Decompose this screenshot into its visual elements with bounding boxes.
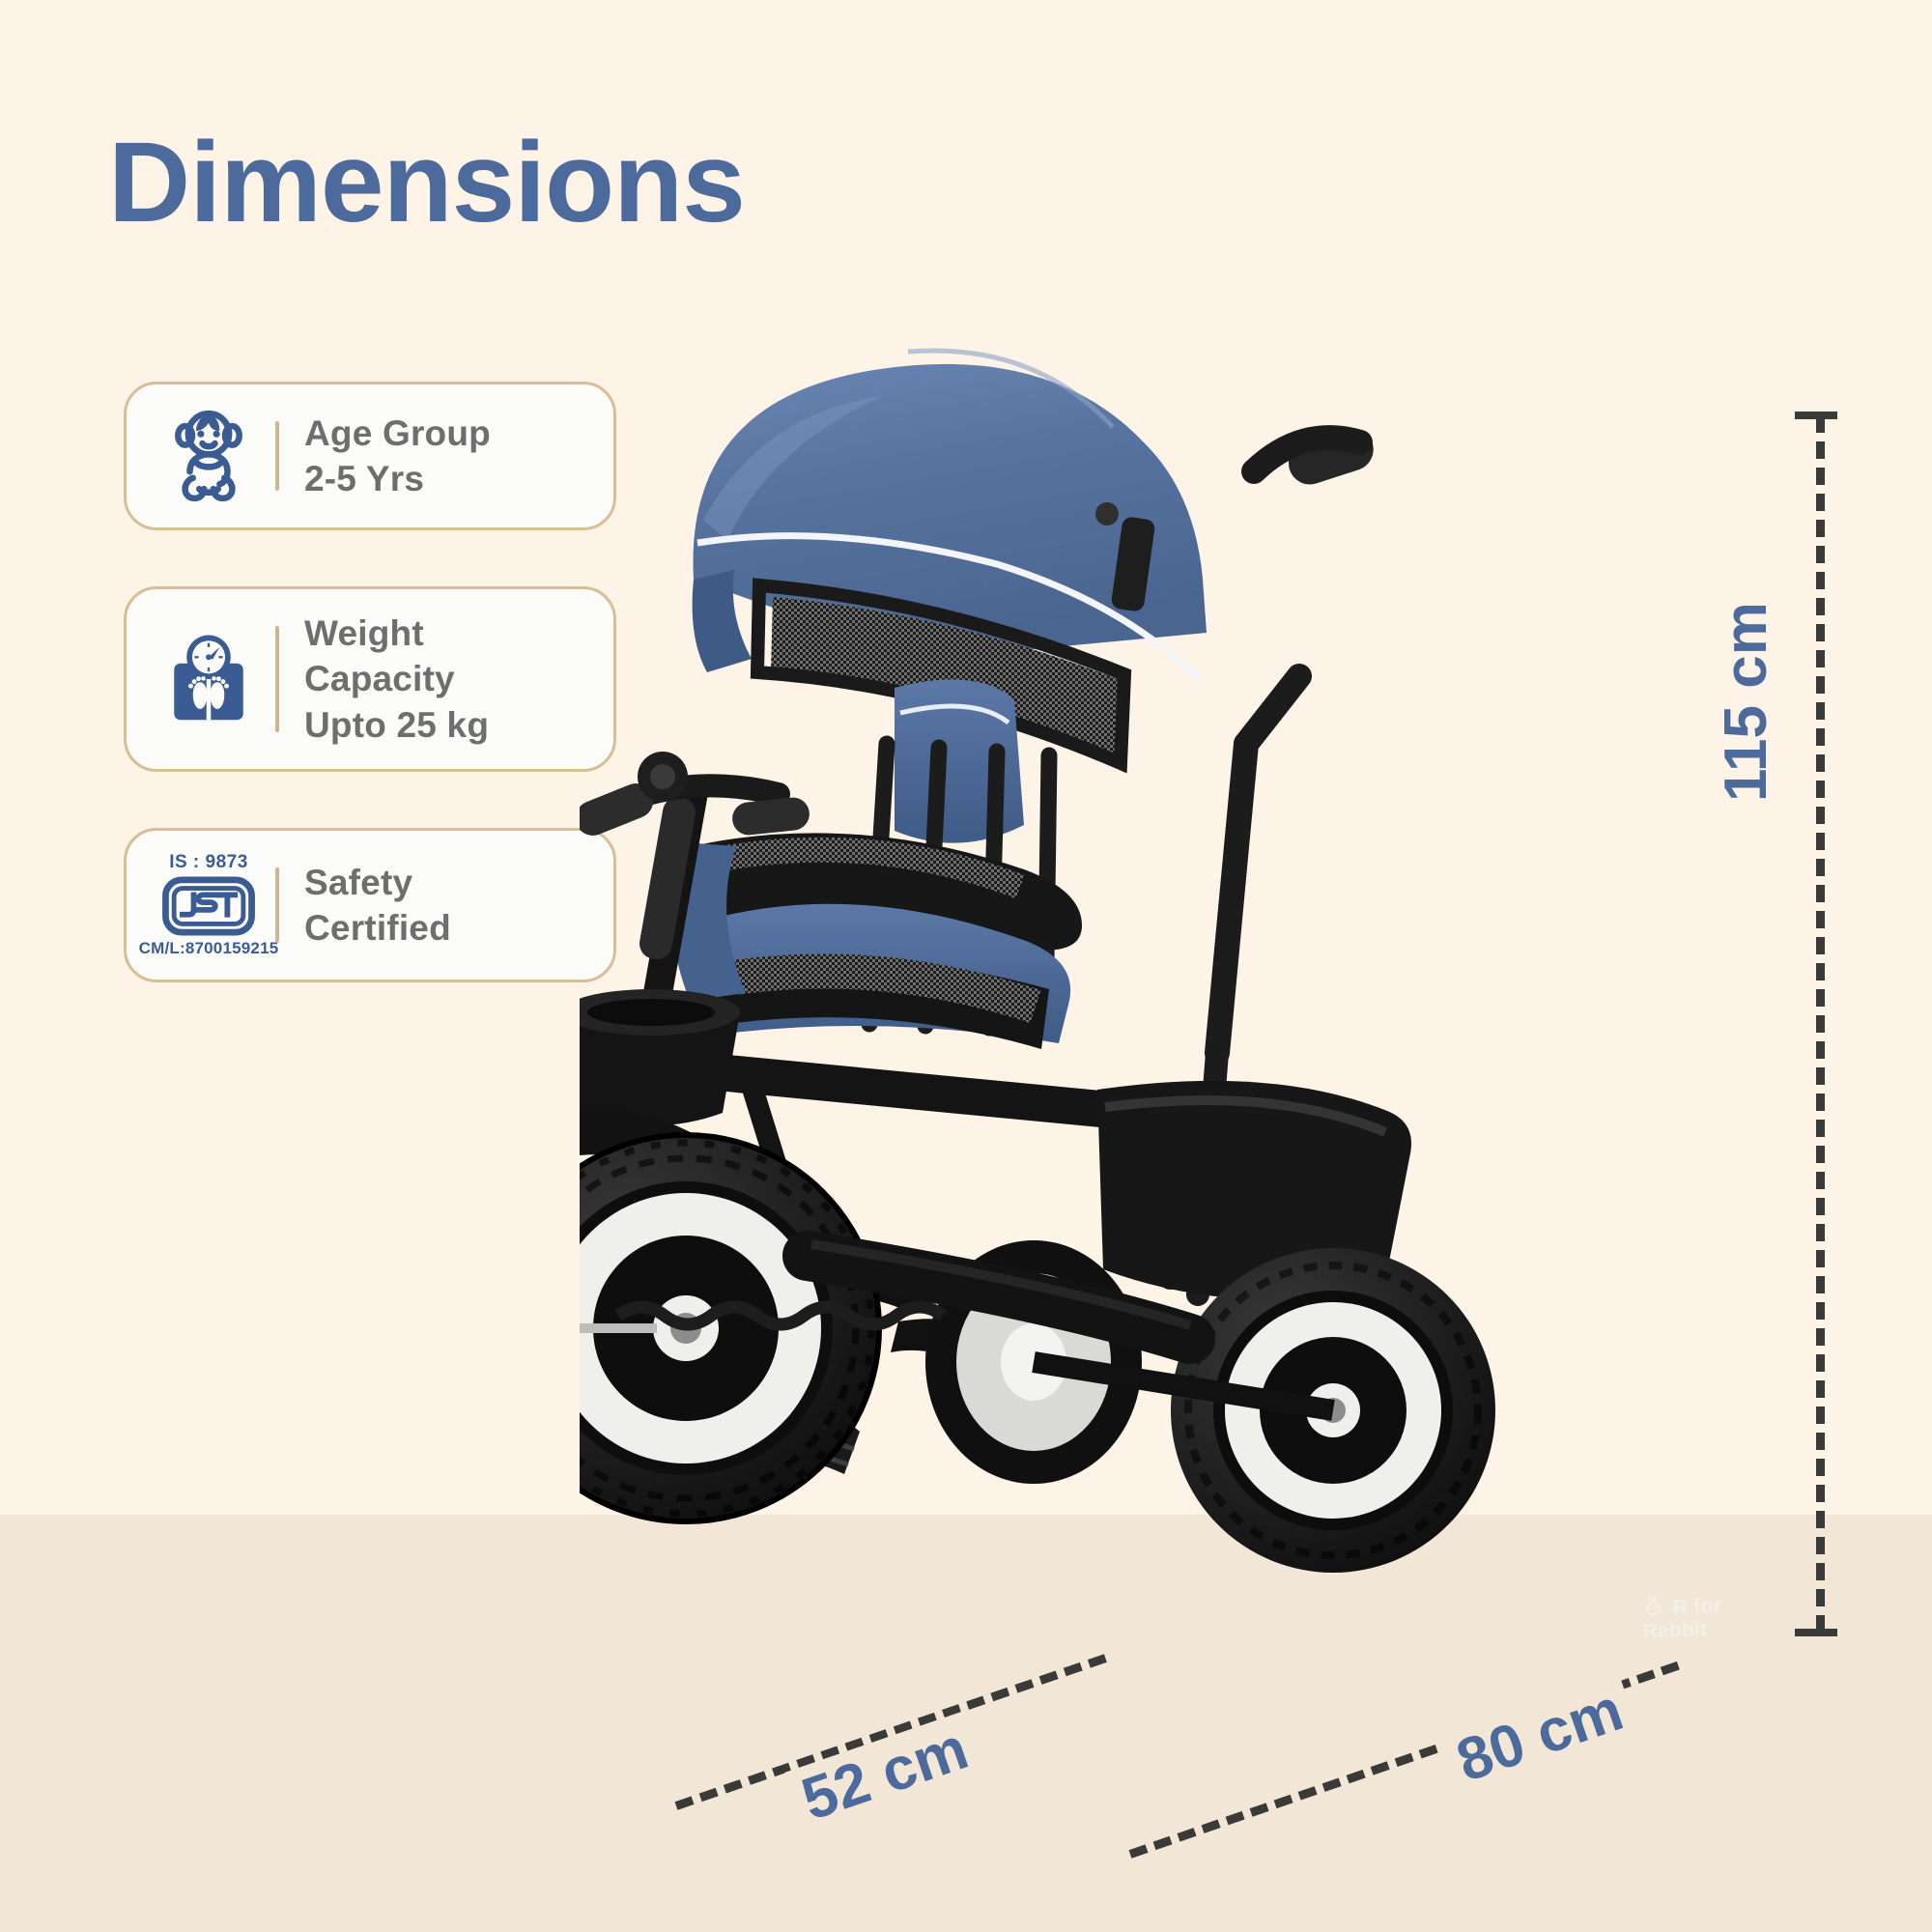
feature-card-weight-capacity: Weight Capacity Upto 25 kg <box>124 586 616 772</box>
isi-standard-number: IS : 9873 <box>169 852 248 873</box>
height-dimension-label: 115 cm <box>1712 602 1780 802</box>
isi-licence-number: CM/L:8700159215 <box>139 939 279 958</box>
isi-mark-icon: IS : 9873 CM/L:8700159215 <box>152 852 266 958</box>
page-title: Dimensions <box>108 126 745 240</box>
card-divider <box>275 867 279 943</box>
product-image: R for Rabbit <box>580 290 1787 1594</box>
baby-icon <box>152 406 266 506</box>
feature-card-safety-certified: IS : 9873 CM/L:8700159215 Safety Certifi… <box>124 828 616 982</box>
infographic-stage: Dimensions <box>0 0 1932 1932</box>
feature-card-label: Safety Certified <box>304 860 451 952</box>
feature-card-list: Age Group 2-5 Yrs <box>124 382 616 1038</box>
weighing-scale-icon <box>152 629 266 729</box>
height-dimension-cap-bottom <box>1795 1629 1837 1636</box>
feature-card-label: Weight Capacity Upto 25 kg <box>304 611 489 748</box>
feature-card-age-group: Age Group 2-5 Yrs <box>124 382 616 530</box>
card-divider <box>275 626 279 732</box>
feature-card-label: Age Group 2-5 Yrs <box>304 411 491 502</box>
rabbit-face-icon <box>1641 1594 1667 1620</box>
height-dimension-line <box>1816 415 1825 1633</box>
brand-logo: R for Rabbit <box>1641 1589 1788 1643</box>
card-divider <box>275 421 279 491</box>
